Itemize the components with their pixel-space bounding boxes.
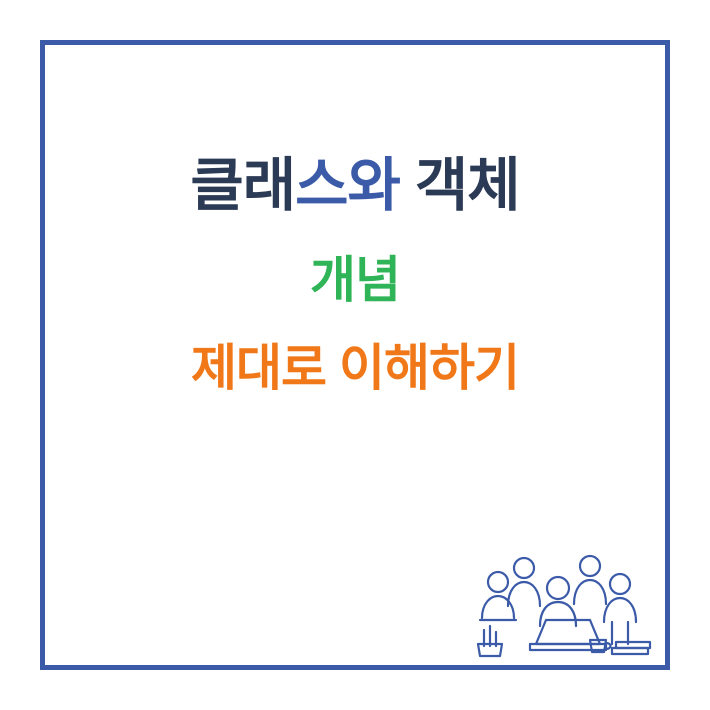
group-of-people-with-laptop-icon [472,548,652,658]
title-line-1: 클래스와 객체 [0,150,710,223]
poster-card: 클래스와 객체 개념 제대로 이해하기 [0,0,710,710]
title-block: 클래스와 객체 개념 제대로 이해하기 [0,150,710,400]
title-line-3: 제대로 이해하기 [0,337,710,400]
title-line-1-segment-2: 스와 [295,153,400,218]
title-line-2: 개념 [0,249,710,312]
title-line-1-segment-1: 클래 [190,153,295,218]
title-line-1-segment-3: 객체 [400,153,520,218]
